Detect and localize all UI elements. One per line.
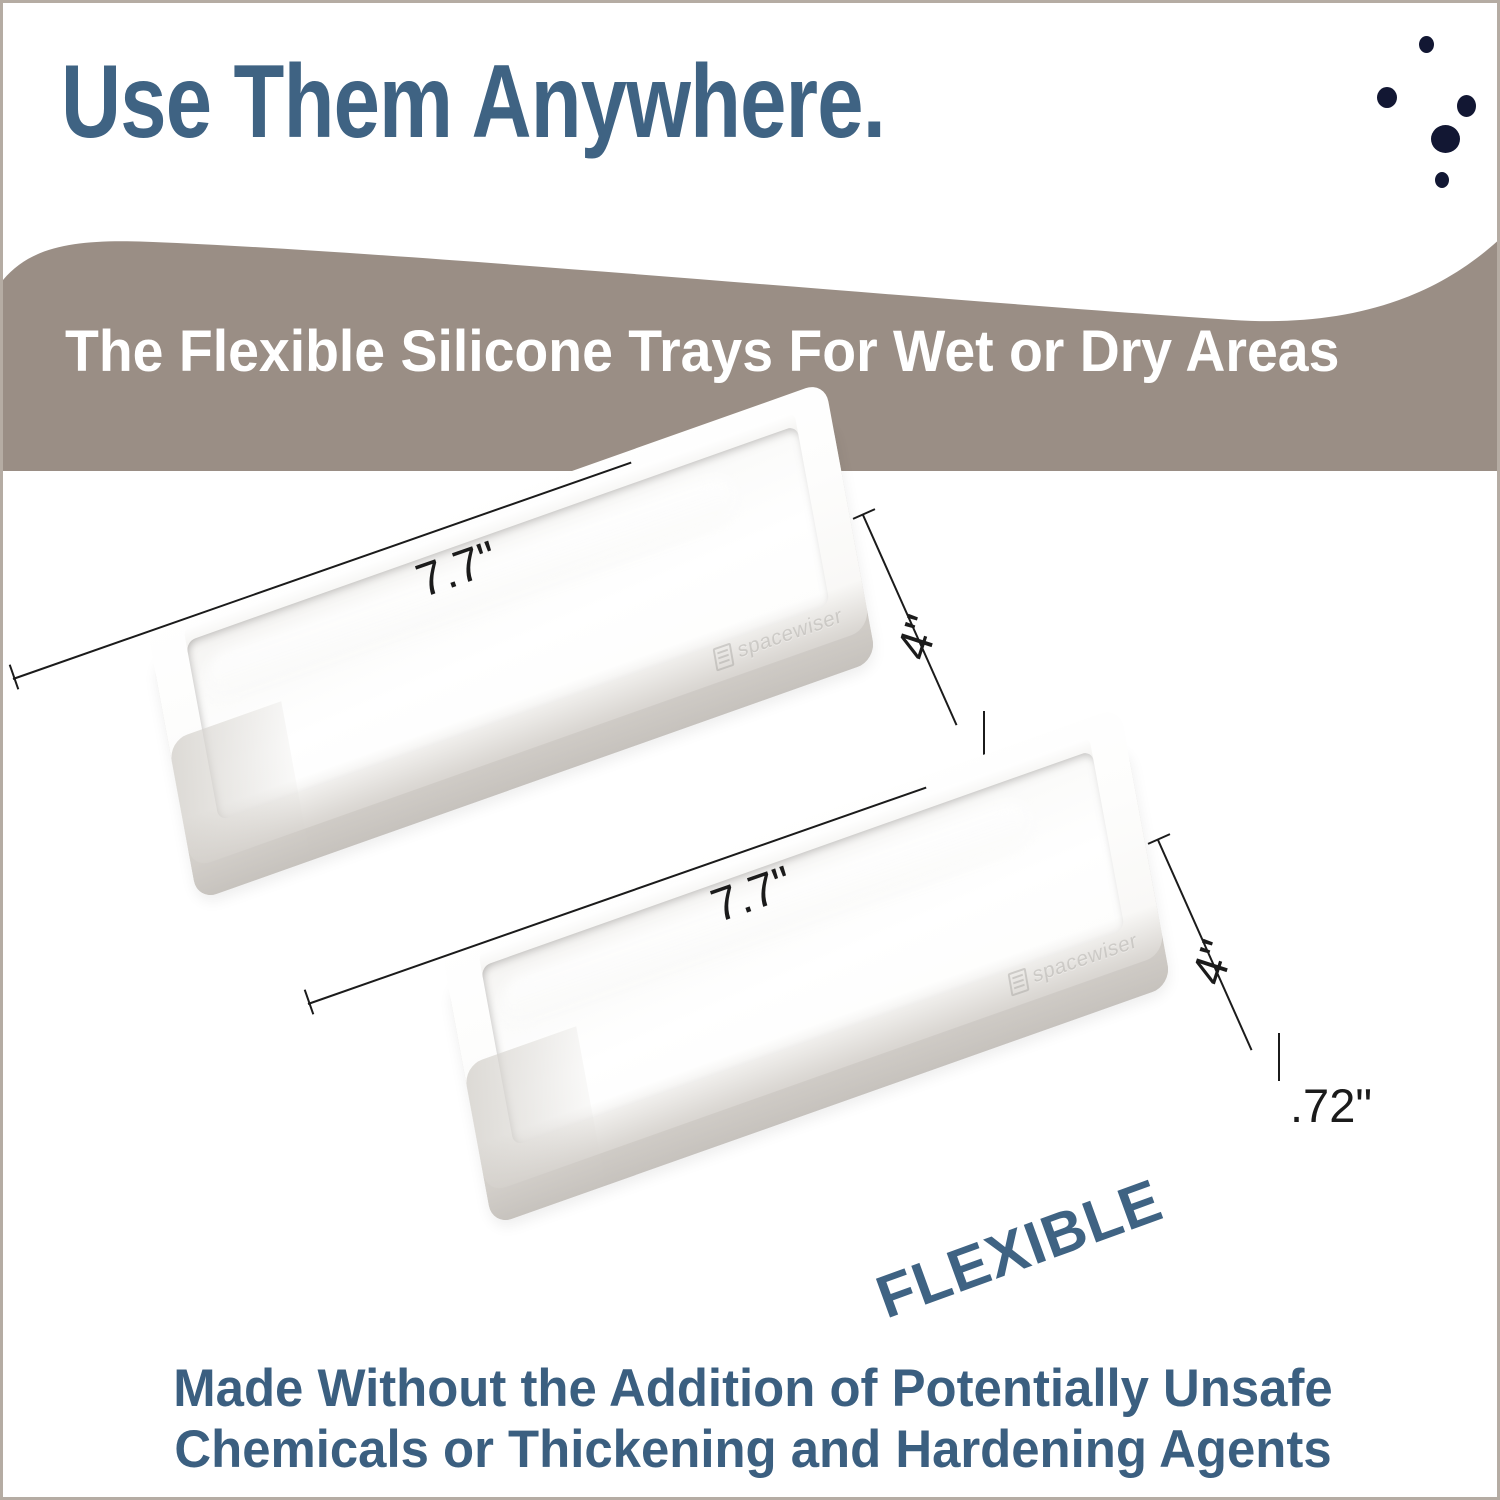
dot-icon-1 bbox=[1419, 36, 1434, 53]
footer-line-1: Made Without the Addition of Potentially… bbox=[33, 1358, 1473, 1419]
footer-section: Made Without the Addition of Potentially… bbox=[3, 1358, 1500, 1481]
header-section: Use Them Anywhere. bbox=[3, 3, 1500, 253]
dot-icon-4 bbox=[1431, 125, 1460, 153]
dimension-label-width-lower: 4" bbox=[1180, 933, 1246, 991]
product-infographic: Use Them Anywhere. The Flexible Silicone… bbox=[0, 0, 1500, 1500]
dimension-label-height-lower: .72" bbox=[1290, 1078, 1372, 1133]
flexible-callout: FLEXIBLE bbox=[867, 1165, 1171, 1332]
banner-subtitle: The Flexible Silicone Trays For Wet or D… bbox=[65, 322, 1402, 383]
page-title: Use Them Anywhere. bbox=[61, 49, 885, 155]
decorative-dot-cluster bbox=[1371, 33, 1500, 173]
footer-line-2: Chemicals or Thickening and Hardening Ag… bbox=[33, 1419, 1473, 1480]
dimension-tick-height-lower bbox=[1278, 1033, 1280, 1081]
dimension-label-width-upper: 4" bbox=[885, 608, 951, 666]
dimension-tick-height-upper bbox=[983, 711, 985, 759]
product-stage: spacewiser 7.7" 4" .72" bbox=[3, 471, 1500, 1371]
dot-icon-5 bbox=[1435, 172, 1449, 188]
upper-silicone-tray: spacewiser bbox=[153, 501, 873, 801]
dot-icon-3 bbox=[1457, 95, 1476, 117]
lower-silicone-tray: spacewiser bbox=[448, 826, 1168, 1126]
dot-icon-2 bbox=[1377, 87, 1397, 108]
